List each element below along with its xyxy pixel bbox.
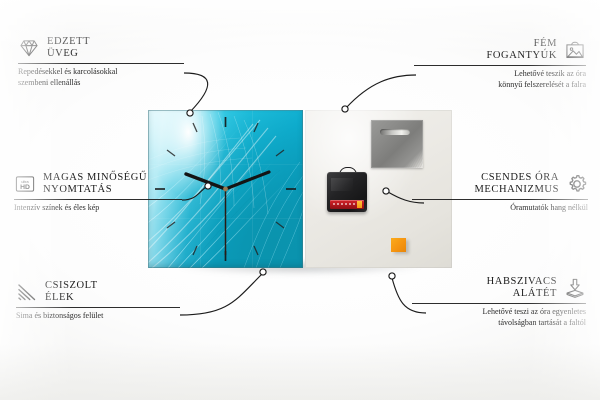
ultra-hd-main-label: HD: [20, 184, 30, 191]
callout-header: HABSZIVACS ALÁTÉT: [412, 276, 586, 300]
diamond-icon: [18, 37, 40, 59]
battery: [330, 200, 364, 209]
connector-handles: [346, 75, 416, 108]
callout-title: HABSZIVACS ALÁTÉT: [487, 276, 557, 300]
callout-header: ultra HD MAGAS MINŐSÉGŰ NYOMTATÁS: [14, 172, 182, 196]
callout-silent-mechanism: CSENDES ÓRA MECHANIZMUS Óramutatók hang …: [412, 172, 588, 214]
wall-mount-icon: [564, 39, 586, 61]
sanded-edges-icon: [16, 281, 38, 303]
callout-title: EDZETT ÜVEG: [47, 36, 90, 60]
connector-glass: [184, 73, 208, 112]
callout-rule: [16, 307, 180, 308]
callout-rule: [14, 199, 182, 200]
callout-foam-pad: HABSZIVACS ALÁTÉT Lehetővé teszi az óra …: [412, 276, 586, 329]
callout-high-quality-print: ultra HD MAGAS MINŐSÉGŰ NYOMTATÁS Intenz…: [14, 172, 182, 214]
callout-title: FÉM FOGANTYÚK: [486, 38, 557, 62]
callout-header: FÉM FOGANTYÚK: [414, 38, 586, 62]
callout-subtitle: Óramutatók hang nélkül: [412, 203, 588, 214]
callout-rule: [414, 65, 586, 66]
gear-icon: [566, 173, 588, 195]
ultra-hd-icon: ultra HD: [14, 173, 36, 195]
metal-hanger: [371, 120, 423, 168]
callout-subtitle: Repedésekkel és karcolásokkal szembeni e…: [18, 67, 184, 89]
callout-subtitle: Lehetővé teszi az óra egyenletes távolsá…: [412, 307, 586, 329]
product-image: [148, 110, 452, 270]
callout-header: EDZETT ÜVEG: [18, 36, 184, 60]
callout-header: CSISZOLT ÉLEK: [16, 280, 180, 304]
callout-tempered-glass: EDZETT ÜVEG Repedésekkel és karcolásokka…: [18, 36, 184, 89]
infographic-stage: EDZETT ÜVEG Repedésekkel és karcolásokka…: [0, 0, 600, 400]
callout-title: CSISZOLT ÉLEK: [45, 280, 98, 304]
callout-subtitle: Intenzív színek és éles kép: [14, 203, 182, 214]
callout-sanded-edges: CSISZOLT ÉLEK Sima és biztonságos felüle…: [16, 280, 180, 322]
callout-metal-handles: FÉM FOGANTYÚK Lehetővé teszik az óra kön…: [414, 38, 586, 91]
callout-rule: [412, 303, 586, 304]
foam-pad: [391, 238, 406, 252]
callout-subtitle: Lehetővé teszik az óra könnyű felszerelé…: [414, 69, 586, 91]
quartz-mechanism: [327, 172, 367, 212]
callout-title: MAGAS MINŐSÉGŰ NYOMTATÁS: [43, 172, 147, 196]
hanger-slot: [380, 129, 410, 135]
callout-subtitle: Sima és biztonságos felület: [16, 311, 180, 322]
callout-header: CSENDES ÓRA MECHANIZMUS: [412, 172, 588, 196]
callout-rule: [412, 199, 588, 200]
callout-rule: [18, 63, 184, 64]
connector-edges: [180, 274, 262, 315]
foam-pad-icon: [564, 277, 586, 299]
callout-title: CSENDES ÓRA MECHANIZMUS: [474, 172, 559, 196]
mechanism-body: [327, 172, 367, 212]
